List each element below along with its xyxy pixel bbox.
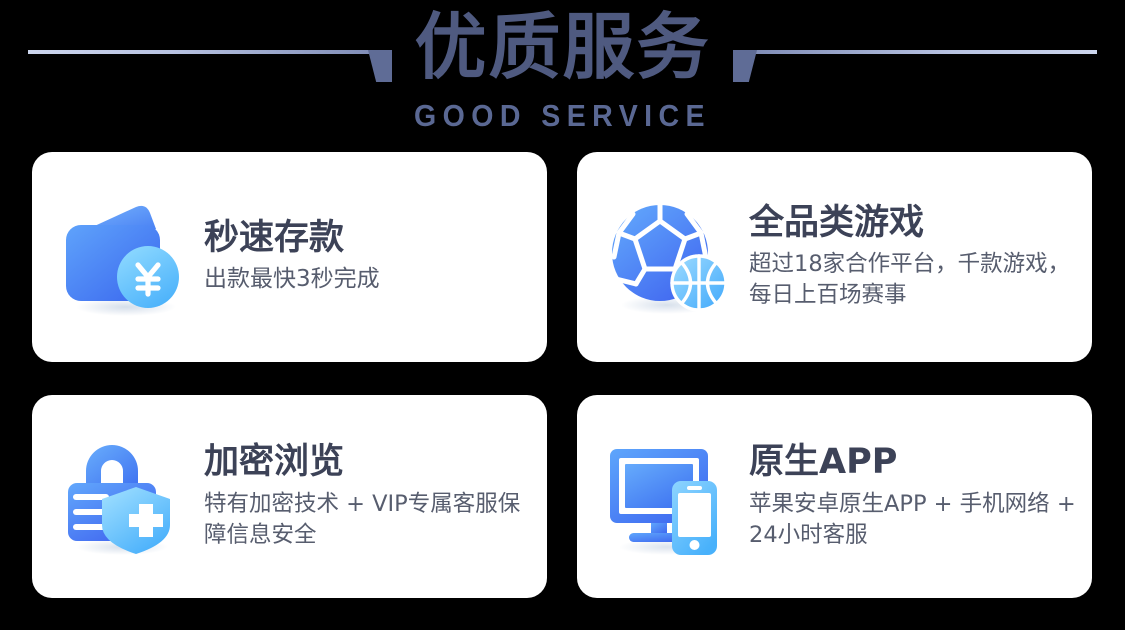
card-text-block: 加密浏览 特有加密技术 + VIP专属客服保障信息安全 [204, 442, 547, 550]
lock-shield-icon [60, 435, 186, 559]
card-text-block: 原生APP 苹果安卓原生APP + 手机网络 + 24小时客服 [749, 442, 1092, 550]
soccer-basketball-icon [605, 195, 731, 319]
card-text-block: 秒速存款 出款最快3秒完成 [204, 218, 547, 296]
feature-card-native-app[interactable]: 原生APP 苹果安卓原生APP + 手机网络 + 24小时客服 [577, 395, 1092, 598]
card-title: 秒速存款 [204, 218, 533, 258]
promo-banner: 优质服务 GOOD SERVICE [0, 0, 1125, 630]
feature-card-instant-deposit[interactable]: 秒速存款 出款最快3秒完成 [32, 152, 547, 362]
feature-card-all-category-games[interactable]: 全品类游戏 超过18家合作平台，千款游戏，每日上百场赛事 [577, 152, 1092, 362]
card-subtitle: 出款最快3秒完成 [204, 264, 533, 296]
card-subtitle: 超过18家合作平台，千款游戏，每日上百场赛事 [749, 249, 1078, 311]
page-subtitle: GOOD SERVICE [45, 98, 1080, 134]
page-title: 优质服务 [0, 6, 1125, 89]
card-subtitle: 特有加密技术 + VIP专属客服保障信息安全 [204, 489, 533, 551]
card-title: 原生APP [749, 442, 1078, 482]
card-subtitle: 苹果安卓原生APP + 手机网络 + 24小时客服 [749, 489, 1078, 551]
monitor-phone-icon [605, 435, 731, 559]
card-title: 全品类游戏 [749, 203, 1078, 243]
header: 优质服务 GOOD SERVICE [0, 0, 1125, 142]
card-text-block: 全品类游戏 超过18家合作平台，千款游戏，每日上百场赛事 [749, 203, 1092, 311]
wallet-yen-icon [60, 195, 186, 319]
feature-card-encrypted-browsing[interactable]: 加密浏览 特有加密技术 + VIP专属客服保障信息安全 [32, 395, 547, 598]
card-title: 加密浏览 [204, 442, 533, 482]
feature-card-grid: 秒速存款 出款最快3秒完成 [32, 152, 1092, 598]
